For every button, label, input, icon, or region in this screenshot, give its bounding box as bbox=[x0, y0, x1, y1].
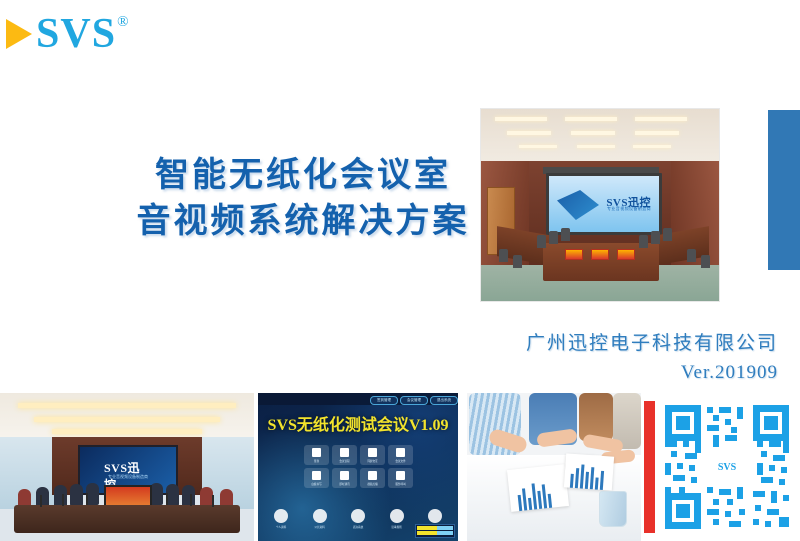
chair bbox=[561, 228, 570, 241]
chair bbox=[549, 231, 558, 244]
screen-subtitle-text: 专业音视频设备制造商 bbox=[108, 474, 148, 480]
qr-center-logo: SVS bbox=[709, 456, 745, 478]
status-panel bbox=[415, 524, 455, 538]
app-tile[interactable]: 签到 bbox=[304, 445, 329, 465]
version-label: Ver.201909 bbox=[681, 362, 778, 384]
chair bbox=[513, 255, 522, 268]
dock-item-label: 议事规则 bbox=[391, 525, 401, 529]
vote-icon bbox=[351, 509, 365, 523]
title-line-1: 智能无纸化会议室 bbox=[108, 152, 498, 198]
water-glass bbox=[599, 491, 627, 527]
dock-item[interactable]: 公共资料 bbox=[313, 509, 327, 529]
app-tile[interactable]: 视频点播 bbox=[360, 468, 385, 488]
chair bbox=[499, 249, 508, 262]
chair bbox=[663, 228, 672, 241]
table-flag bbox=[591, 249, 609, 260]
dock-item-label: 公共资料 bbox=[314, 525, 324, 529]
qr-code-panel: SVS bbox=[644, 393, 800, 541]
topbar-button-2[interactable]: 退出系统 bbox=[430, 396, 458, 405]
svs-logo: SVS ® bbox=[6, 12, 127, 56]
app-tile-label: 同屏交互 bbox=[367, 459, 377, 463]
dock-item-label: 表决系统 bbox=[353, 525, 363, 529]
paperless-software-screenshot: 签到管理 会议管理 退出系统 SVS无纸化测试会议V1.09 签到 会议议程 同… bbox=[258, 393, 458, 541]
camera-icon bbox=[368, 471, 377, 480]
app-tile-label: 白板书写 bbox=[311, 482, 321, 486]
registered-trademark-icon: ® bbox=[117, 15, 128, 30]
table-flag bbox=[617, 249, 635, 260]
app-tile[interactable]: 服务呼叫 bbox=[388, 468, 413, 488]
document-icon bbox=[396, 448, 405, 457]
user-icon bbox=[274, 509, 288, 523]
app-tile[interactable]: 即时通讯 bbox=[332, 468, 357, 488]
page-title: 智能无纸化会议室 音视频系统解决方案 bbox=[108, 152, 498, 244]
app-tile-label: 服务呼叫 bbox=[395, 482, 405, 486]
screen-share-icon bbox=[368, 448, 377, 457]
presentation-cover-slide: SVS ® 智能无纸化会议室 音视频系统解决方案 广州迅控电子科技有限公司 Ve… bbox=[0, 0, 800, 541]
screen-artwork bbox=[557, 190, 599, 220]
qr-center-label: SVS bbox=[718, 462, 736, 473]
app-tile-label: 签到 bbox=[314, 459, 319, 463]
ceiling bbox=[481, 109, 719, 167]
screen-subtitle-text: 专业音视频设备制造商 bbox=[607, 206, 651, 212]
bell-icon bbox=[396, 471, 405, 480]
software-topbar: 签到管理 会议管理 退出系统 bbox=[258, 393, 458, 405]
app-tile[interactable]: 会议文件 bbox=[388, 445, 413, 465]
chair bbox=[639, 235, 648, 248]
app-tile-label: 会议文件 bbox=[395, 459, 405, 463]
topbar-button-1[interactable]: 会议管理 bbox=[400, 396, 428, 405]
network-icon bbox=[390, 509, 404, 523]
qr-code[interactable]: SVS bbox=[661, 401, 793, 533]
clipboard-icon bbox=[312, 448, 321, 457]
bottom-image-strip: SVS迅控 专业音视频设备制造商 签到管理 bbox=[0, 393, 800, 541]
conference-table bbox=[14, 505, 240, 533]
red-accent-bar bbox=[644, 401, 655, 533]
app-tile-label: 会议议程 bbox=[339, 459, 349, 463]
app-tile-label: 视频点播 bbox=[367, 482, 377, 486]
right-accent-bar bbox=[768, 110, 800, 270]
title-line-2: 音视频系统解决方案 bbox=[108, 198, 498, 244]
software-title: SVS无纸化测试会议V1.09 bbox=[268, 411, 449, 435]
business-discussion-photo bbox=[467, 393, 641, 541]
meeting-room-photo: SVS迅控 专业音视频设备制造商 bbox=[0, 393, 254, 541]
dock-item[interactable]: 表决系统 bbox=[351, 509, 365, 529]
dock-item[interactable]: 个人资料 bbox=[274, 509, 288, 529]
hero-conference-room-image: SVS迅控 专业音视频设备制造商 bbox=[480, 108, 720, 302]
company-name: 广州迅控电子科技有限公司 bbox=[526, 328, 778, 355]
chair bbox=[651, 231, 660, 244]
app-tile-grid: 签到 会议议程 同屏交互 会议文件 白板书写 即时通讯 视频点播 服务呼叫 bbox=[304, 445, 416, 488]
app-tile-label: 即时通讯 bbox=[339, 482, 349, 486]
files-icon bbox=[313, 509, 327, 523]
chart-paper bbox=[507, 464, 569, 512]
table-flag bbox=[565, 249, 583, 260]
chair bbox=[687, 249, 696, 262]
app-tile[interactable]: 白板书写 bbox=[304, 468, 329, 488]
triangle-play-icon bbox=[6, 19, 32, 49]
chair bbox=[537, 235, 546, 248]
topbar-button-0[interactable]: 签到管理 bbox=[370, 396, 398, 405]
chair bbox=[701, 255, 710, 268]
monitor-icon bbox=[428, 509, 442, 523]
app-tile[interactable]: 会议议程 bbox=[332, 445, 357, 465]
dock-item[interactable]: 议事规则 bbox=[390, 509, 404, 529]
folder-icon bbox=[312, 471, 321, 480]
led-display: SVS迅控 专业音视频设备制造商 bbox=[546, 173, 662, 235]
refresh-icon bbox=[340, 471, 349, 480]
file-icon bbox=[340, 448, 349, 457]
dock-item-label: 个人资料 bbox=[276, 525, 286, 529]
logo-wordmark: SVS bbox=[36, 13, 116, 55]
app-tile[interactable]: 同屏交互 bbox=[360, 445, 385, 465]
chart-paper bbox=[564, 453, 614, 490]
